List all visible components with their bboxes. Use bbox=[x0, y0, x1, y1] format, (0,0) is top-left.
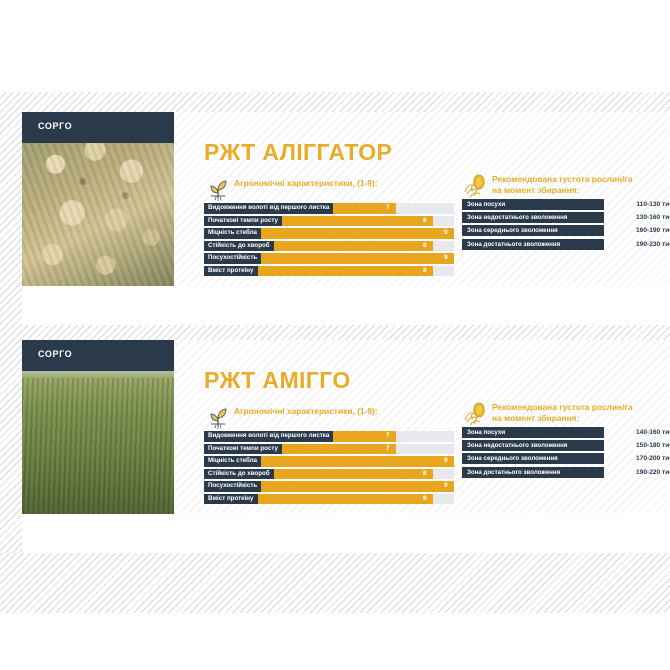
card-content: РЖТ АЛІГГАТОР Агр bbox=[190, 112, 670, 286]
agro-bar-row: Міцність стебла9 bbox=[204, 228, 454, 239]
density-table: Зона посухи110-130 тисЗона недостатнього… bbox=[462, 199, 670, 250]
density-row: Зона середнього зволоження170-200 тис bbox=[462, 453, 670, 464]
density-zone-label: Зона недостатнього зволоження bbox=[462, 440, 604, 451]
density-zone-label: Зона середнього зволоження bbox=[462, 453, 604, 464]
agro-bar-value: 7 bbox=[386, 203, 390, 214]
agro-bar-row: Початкові темпи росту7 bbox=[204, 444, 454, 455]
variety-card: СОРГО РЖТ АМІГГО bbox=[22, 340, 670, 552]
variety-photo-column: СОРГО bbox=[22, 340, 174, 514]
density-zone-label: Зона недостатнього зволоження bbox=[462, 212, 604, 223]
crop-category-tag: СОРГО bbox=[22, 340, 174, 371]
agro-bar-row: Видовження волоті від першого листка7 bbox=[204, 203, 454, 214]
agro-bar-value: 9 bbox=[444, 456, 448, 467]
density-zone-value: 170-200 тис bbox=[604, 453, 670, 464]
agro-heading: Агрономічні характеристики, (1-9): bbox=[204, 406, 454, 428]
density-heading: Рекомендована густота рослин/га на момен… bbox=[462, 174, 670, 196]
density-table: Зона посухи140-160 тисЗона недостатнього… bbox=[462, 427, 670, 478]
agro-bar-value: 9 bbox=[444, 253, 448, 264]
crop-category-tag: СОРГО bbox=[22, 112, 174, 143]
agro-bar-row: Міцність стебла9 bbox=[204, 456, 454, 467]
agro-bar-value: 9 bbox=[444, 228, 448, 239]
density-zone-value: 150-180 тис bbox=[604, 440, 670, 451]
agro-bar-row: Посухостійкість9 bbox=[204, 253, 454, 264]
agro-heading-text: Агрономічні характеристики, (1-9): bbox=[234, 178, 378, 188]
density-heading-line2: на момент збирання: bbox=[492, 185, 579, 195]
agro-bar-value: 8 bbox=[423, 241, 427, 252]
density-heading-line1: Рекомендована густота рослин/га bbox=[492, 402, 633, 412]
density-zone-value: 190-230 тис bbox=[604, 239, 670, 250]
agro-bar-row: Вміст протеїну8 bbox=[204, 266, 454, 277]
agro-bar-label: Вміст протеїну bbox=[204, 266, 258, 277]
background-hatch-bottom bbox=[0, 553, 670, 613]
density-zone-label: Зона достатнього зволоження bbox=[462, 239, 604, 250]
agro-bar-label: Міцність стебла bbox=[204, 228, 261, 239]
variety-photo-column: СОРГО bbox=[22, 112, 174, 286]
agro-bar-value: 8 bbox=[423, 494, 427, 505]
agro-bar-row: Вміст протеїну8 bbox=[204, 494, 454, 505]
agro-bar-list: Видовження волоті від першого листка7Поч… bbox=[204, 431, 454, 504]
agro-bar-label: Видовження волоті від першого листка bbox=[204, 431, 333, 442]
agronomic-characteristics-section: Агрономічні характеристики, (1-9): Видов… bbox=[204, 178, 454, 278]
agro-bar-label: Стійкість до хвороб bbox=[204, 241, 274, 252]
agro-bar-row: Стійкість до хвороб8 bbox=[204, 469, 454, 480]
background-hatch-left bbox=[0, 92, 22, 613]
sprout-icon bbox=[204, 176, 232, 204]
agro-bar-row: Стійкість до хвороб8 bbox=[204, 241, 454, 252]
hand-coin-icon bbox=[462, 172, 490, 200]
agro-bar-row: Посухостійкість9 bbox=[204, 481, 454, 492]
density-heading: Рекомендована густота рослин/га на момен… bbox=[462, 402, 670, 424]
density-zone-value: 160-190 тис bbox=[604, 225, 670, 236]
agro-bar-label: Міцність стебла bbox=[204, 456, 261, 467]
density-heading-line1: Рекомендована густота рослин/га bbox=[492, 174, 633, 184]
agro-bar-value: 8 bbox=[423, 266, 427, 277]
card-body: СОРГО РЖТ АЛІГГАТОР bbox=[22, 112, 670, 286]
density-recommendation-section: Рекомендована густота рослин/га на момен… bbox=[462, 402, 670, 480]
agro-bar-label: Початкові темпи росту bbox=[204, 216, 282, 227]
density-zone-value: 140-160 тис bbox=[604, 427, 670, 438]
agro-bar-list: Видовження волоті від першого листка7Поч… bbox=[204, 203, 454, 276]
variety-title: РЖТ АМІГГО bbox=[204, 367, 351, 394]
density-zone-value: 110-130 тис bbox=[604, 199, 670, 210]
agro-bar-value: 8 bbox=[423, 469, 427, 480]
agro-bar-label: Вміст протеїну bbox=[204, 494, 258, 505]
catalog-page: СОРГО РЖТ АЛІГГАТОР bbox=[0, 0, 670, 670]
variety-card: СОРГО РЖТ АЛІГГАТОР bbox=[22, 112, 670, 324]
card-body: СОРГО РЖТ АМІГГО bbox=[22, 340, 670, 514]
density-row: Зона достатнього зволоження190-220 тис bbox=[462, 467, 670, 478]
crop-category-label: СОРГО bbox=[38, 349, 72, 359]
density-recommendation-section: Рекомендована густота рослин/га на момен… bbox=[462, 174, 670, 252]
agro-bar-label: Посухостійкість bbox=[204, 253, 261, 264]
hand-coin-icon bbox=[462, 400, 490, 428]
agro-bar-value: 7 bbox=[386, 444, 390, 455]
sprout-icon bbox=[204, 404, 232, 432]
agro-bar-row: Початкові темпи росту8 bbox=[204, 216, 454, 227]
variety-title: РЖТ АЛІГГАТОР bbox=[204, 139, 392, 166]
density-zone-value: 190-220 тис bbox=[604, 467, 670, 478]
agro-bar-row: Видовження волоті від першого листка7 bbox=[204, 431, 454, 442]
card-content: РЖТ АМІГГО Агрономічні хар bbox=[190, 340, 670, 514]
agro-bar-value: 9 bbox=[444, 481, 448, 492]
density-heading-line2: на момент збирання: bbox=[492, 413, 579, 423]
agro-heading-text: Агрономічні характеристики, (1-9): bbox=[234, 406, 378, 416]
crop-category-label: СОРГО bbox=[38, 121, 72, 131]
density-row: Зона недостатнього зволоження150-180 тис bbox=[462, 440, 670, 451]
agro-heading: Агрономічні характеристики, (1-9): bbox=[204, 178, 454, 200]
agro-bar-label: Посухостійкість bbox=[204, 481, 261, 492]
agro-bar-label: Стійкість до хвороб bbox=[204, 469, 274, 480]
density-zone-label: Зона посухи bbox=[462, 427, 604, 438]
agronomic-characteristics-section: Агрономічні характеристики, (1-9): Видов… bbox=[204, 406, 454, 506]
density-row: Зона посухи140-160 тис bbox=[462, 427, 670, 438]
agro-bar-value: 7 bbox=[386, 431, 390, 442]
density-row: Зона достатнього зволоження190-230 тис bbox=[462, 239, 670, 250]
density-zone-label: Зона середнього зволоження bbox=[462, 225, 604, 236]
agro-bar-label: Початкові темпи росту bbox=[204, 444, 282, 455]
density-zone-value: 130-160 тис bbox=[604, 212, 670, 223]
density-row: Зона середнього зволоження160-190 тис bbox=[462, 225, 670, 236]
agro-bar-value: 8 bbox=[423, 216, 427, 227]
density-row: Зона посухи110-130 тис bbox=[462, 199, 670, 210]
density-row: Зона недостатнього зволоження130-160 тис bbox=[462, 212, 670, 223]
agro-bar-label: Видовження волоті від першого листка bbox=[204, 203, 333, 214]
density-zone-label: Зона достатнього зволоження bbox=[462, 467, 604, 478]
density-zone-label: Зона посухи bbox=[462, 199, 604, 210]
